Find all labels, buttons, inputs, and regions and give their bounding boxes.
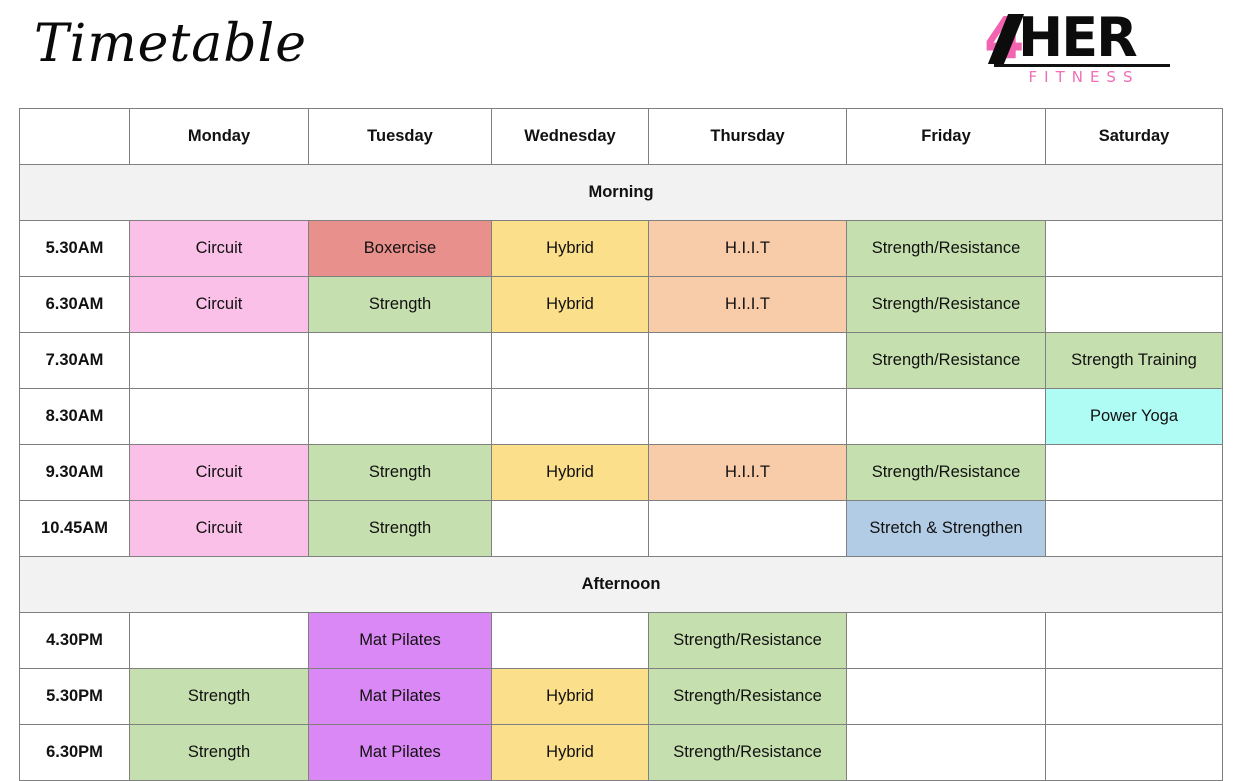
empty-cell	[847, 389, 1046, 445]
class-cell[interactable]: H.I.I.T	[649, 445, 847, 501]
table-row: 10.45AMCircuitStrengthStretch & Strength…	[20, 501, 1223, 557]
empty-cell	[1046, 445, 1223, 501]
page-header: Timetable 4 HER FITNESS	[0, 0, 1240, 108]
timetable-container: MondayTuesdayWednesdayThursdayFridaySatu…	[19, 108, 1222, 781]
column-header-friday: Friday	[847, 109, 1046, 165]
empty-cell	[492, 501, 649, 557]
class-cell[interactable]: Mat Pilates	[309, 613, 492, 669]
empty-cell	[847, 669, 1046, 725]
class-cell[interactable]: Boxercise	[309, 221, 492, 277]
table-row: 6.30AMCircuitStrengthHybridH.I.I.TStreng…	[20, 277, 1223, 333]
timetable-body: Morning5.30AMCircuitBoxerciseHybridH.I.I…	[20, 165, 1223, 781]
empty-cell	[1046, 613, 1223, 669]
empty-cell	[492, 389, 649, 445]
table-row: 7.30AMStrength/ResistanceStrength Traini…	[20, 333, 1223, 389]
table-row: 4.30PMMat PilatesStrength/Resistance	[20, 613, 1223, 669]
logo-mark: 4 HER	[984, 8, 1170, 64]
empty-cell	[649, 333, 847, 389]
column-header-monday: Monday	[130, 109, 309, 165]
time-label: 4.30PM	[20, 613, 130, 669]
table-row: 5.30PMStrengthMat PilatesHybridStrength/…	[20, 669, 1223, 725]
time-label: 6.30AM	[20, 277, 130, 333]
class-cell[interactable]: Circuit	[130, 501, 309, 557]
empty-cell	[649, 501, 847, 557]
table-row: 9.30AMCircuitStrengthHybridH.I.I.TStreng…	[20, 445, 1223, 501]
brand-logo: 4 HER FITNESS	[984, 8, 1170, 88]
column-header-saturday: Saturday	[1046, 109, 1223, 165]
class-cell[interactable]: Strength	[130, 669, 309, 725]
class-cell[interactable]: Hybrid	[492, 221, 649, 277]
class-cell[interactable]: H.I.I.T	[649, 277, 847, 333]
header-row: MondayTuesdayWednesdayThursdayFridaySatu…	[20, 109, 1223, 165]
timetable-head: MondayTuesdayWednesdayThursdayFridaySatu…	[20, 109, 1223, 165]
class-cell[interactable]: Circuit	[130, 445, 309, 501]
class-cell[interactable]: Circuit	[130, 277, 309, 333]
empty-cell	[130, 333, 309, 389]
class-cell[interactable]: Stretch & Strengthen	[847, 501, 1046, 557]
class-cell[interactable]: Strength/Resistance	[649, 613, 847, 669]
table-row: 8.30AMPower Yoga	[20, 389, 1223, 445]
table-row: 5.30AMCircuitBoxerciseHybridH.I.I.TStren…	[20, 221, 1223, 277]
section-label-morning: Morning	[20, 165, 1223, 221]
section-row: Afternoon	[20, 557, 1223, 613]
empty-cell	[1046, 669, 1223, 725]
column-header-tuesday: Tuesday	[309, 109, 492, 165]
empty-cell	[130, 613, 309, 669]
column-header-thursday: Thursday	[649, 109, 847, 165]
class-cell[interactable]: Strength	[309, 501, 492, 557]
class-cell[interactable]: Strength/Resistance	[847, 445, 1046, 501]
time-label: 9.30AM	[20, 445, 130, 501]
class-cell[interactable]: Strength/Resistance	[847, 277, 1046, 333]
section-row: Morning	[20, 165, 1223, 221]
column-header-wednesday: Wednesday	[492, 109, 649, 165]
logo-divider	[994, 64, 1170, 67]
empty-cell	[492, 333, 649, 389]
class-cell[interactable]: Strength/Resistance	[847, 221, 1046, 277]
timetable-page: Timetable 4 HER FITNESS MondayTue	[0, 0, 1240, 733]
class-cell[interactable]: Hybrid	[492, 669, 649, 725]
empty-cell	[1046, 277, 1223, 333]
class-cell[interactable]: Strength	[309, 445, 492, 501]
empty-cell	[1046, 221, 1223, 277]
logo-wordmark-her: HER	[1018, 12, 1136, 64]
time-label: 5.30AM	[20, 221, 130, 277]
logo-tagline: FITNESS	[998, 68, 1170, 86]
empty-cell	[492, 613, 649, 669]
class-cell[interactable]: H.I.I.T	[649, 221, 847, 277]
time-label: 10.45AM	[20, 501, 130, 557]
class-cell[interactable]: Strength	[309, 277, 492, 333]
empty-cell	[130, 389, 309, 445]
column-header-time	[20, 109, 130, 165]
section-label-afternoon: Afternoon	[20, 557, 1223, 613]
empty-cell	[1046, 501, 1223, 557]
page-title: Timetable	[34, 14, 307, 74]
class-cell[interactable]: Hybrid	[492, 277, 649, 333]
empty-cell	[309, 389, 492, 445]
class-cell[interactable]: Strength/Resistance	[847, 333, 1046, 389]
class-cell[interactable]: Hybrid	[492, 445, 649, 501]
empty-cell	[309, 333, 492, 389]
class-cell[interactable]: Strength Training	[1046, 333, 1223, 389]
empty-cell	[847, 613, 1046, 669]
class-cell[interactable]: Strength/Resistance	[649, 669, 847, 725]
class-cell[interactable]: Power Yoga	[1046, 389, 1223, 445]
time-label: 7.30AM	[20, 333, 130, 389]
class-cell[interactable]: Mat Pilates	[309, 669, 492, 725]
empty-cell	[649, 389, 847, 445]
class-cell[interactable]: Circuit	[130, 221, 309, 277]
time-label: 5.30PM	[20, 669, 130, 725]
time-label: 8.30AM	[20, 389, 130, 445]
timetable: MondayTuesdayWednesdayThursdayFridaySatu…	[19, 108, 1223, 781]
